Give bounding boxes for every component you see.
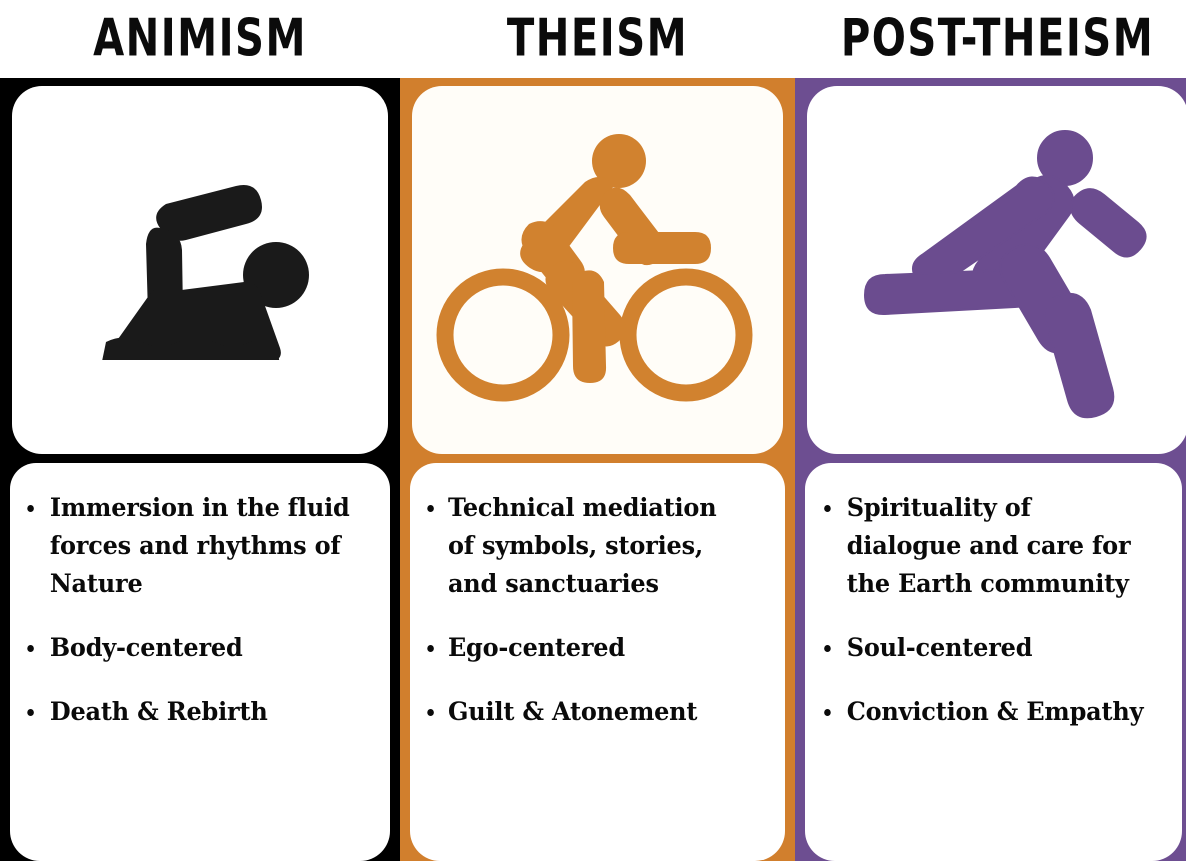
text-card-post-theism: Spirituality of dialogue and care for th… [805,463,1182,861]
text-card-theism: Technical mediation of symbols, stories,… [410,463,785,861]
text-card-animism: Immersion in the fluid forces and rhythm… [10,463,390,861]
icon-card-post-theism [807,86,1188,454]
list-item: Conviction & Empathy [811,693,1147,731]
list-item: Immersion in the fluid forces and rhythm… [16,489,354,603]
list-item: Ego-centered [416,629,750,667]
column-heading-post-theism: POST-THEISM [799,0,1196,88]
bullet-list-theism: Technical mediation of symbols, stories,… [416,489,771,731]
right-page-margin [1186,76,1200,861]
comparison-board: ANIMISM THEISM POST-THEISM [0,0,1200,861]
list-item: Technical mediation of symbols, stories,… [416,489,750,603]
list-item: Soul-centered [811,629,1147,667]
icon-card-theism [412,86,783,454]
columns-row: Immersion in the fluid forces and rhythm… [0,76,1200,861]
bullet-list-animism: Immersion in the fluid forces and rhythm… [16,489,376,731]
list-item: Body-centered [16,629,354,667]
swimmer-icon [64,180,336,360]
column-animism: Immersion in the fluid forces and rhythm… [0,76,400,861]
headings-row: ANIMISM THEISM POST-THEISM [0,0,1200,78]
icon-card-animism [12,86,388,454]
column-heading-theism: THEISM [404,0,791,88]
runner-icon [833,120,1163,420]
cyclist-icon [433,120,763,420]
list-item: Spirituality of dialogue and care for th… [811,489,1147,603]
column-heading-animism: ANIMISM [4,0,396,88]
list-item: Death & Rebirth [16,693,354,731]
bullet-list-post-theism: Spirituality of dialogue and care for th… [811,489,1168,731]
column-post-theism: Spirituality of dialogue and care for th… [795,76,1200,861]
list-item: Guilt & Atonement [416,693,750,731]
column-theism: Technical mediation of symbols, stories,… [400,76,795,861]
